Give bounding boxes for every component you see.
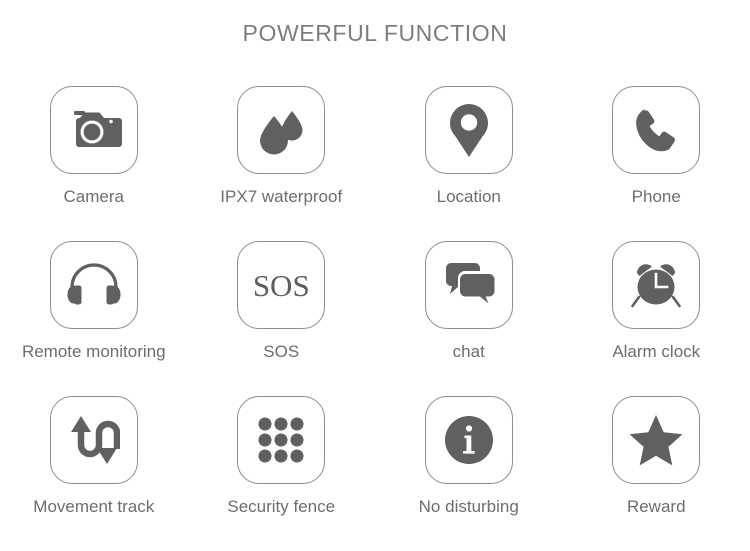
water-drops-icon [255,105,307,155]
feature-label: Reward [627,497,686,517]
feature-item-alarm-clock[interactable]: Alarm clock [563,241,750,396]
feature-label: IPX7 waterproof [220,187,342,207]
phone-handset-icon [631,105,681,155]
feature-item-chat[interactable]: chat [375,241,563,396]
icon-box[interactable] [50,86,138,174]
feature-label: Alarm clock [612,342,700,362]
icon-box[interactable] [425,241,513,329]
star-icon [628,413,684,467]
icon-box[interactable] [425,86,513,174]
icon-box[interactable] [237,396,325,484]
feature-label: Security fence [227,497,335,517]
feature-item-movement-track[interactable]: Movement track [0,396,188,551]
feature-label: SOS [263,342,299,362]
feature-item-phone[interactable]: Phone [563,86,750,241]
feature-item-no-disturbing[interactable]: No disturbing [375,396,563,551]
camera-icon [66,107,122,153]
powerful-function-page: POWERFUL FUNCTION Camera [0,0,750,545]
feature-label: chat [453,342,485,362]
dot-grid-icon [257,416,305,464]
feature-item-location[interactable]: Location [375,86,563,241]
alarm-clock-icon [629,259,683,311]
icon-box[interactable] [612,241,700,329]
icon-box[interactable]: SOS [237,241,325,329]
icon-box[interactable] [425,396,513,484]
map-pin-icon [448,102,490,158]
info-circle-icon [443,414,495,466]
feature-label: Camera [64,187,124,207]
headphones-icon [65,261,123,309]
feature-item-ipx7-waterproof[interactable]: IPX7 waterproof [188,86,376,241]
icon-box[interactable] [50,396,138,484]
feature-item-remote-monitoring[interactable]: Remote monitoring [0,241,188,396]
feature-label: Remote monitoring [22,342,166,362]
icon-box[interactable] [612,86,700,174]
sos-text-icon: SOS [253,270,310,301]
icon-box[interactable] [50,241,138,329]
feature-item-reward[interactable]: Reward [563,396,750,551]
feature-item-security-fence[interactable]: Security fence [188,396,376,551]
feature-item-sos[interactable]: SOS SOS [188,241,376,396]
feature-item-camera[interactable]: Camera [0,86,188,241]
feature-grid: Camera IPX7 waterproof [0,86,750,551]
feature-label: Location [437,187,501,207]
icon-box[interactable] [612,396,700,484]
feature-label: No disturbing [419,497,519,517]
speech-bubbles-icon [442,260,496,310]
icon-box[interactable] [237,86,325,174]
page-title: POWERFUL FUNCTION [0,20,750,47]
feature-label: Movement track [33,497,154,517]
s-curve-arrows-icon [68,413,120,467]
feature-label: Phone [632,187,681,207]
